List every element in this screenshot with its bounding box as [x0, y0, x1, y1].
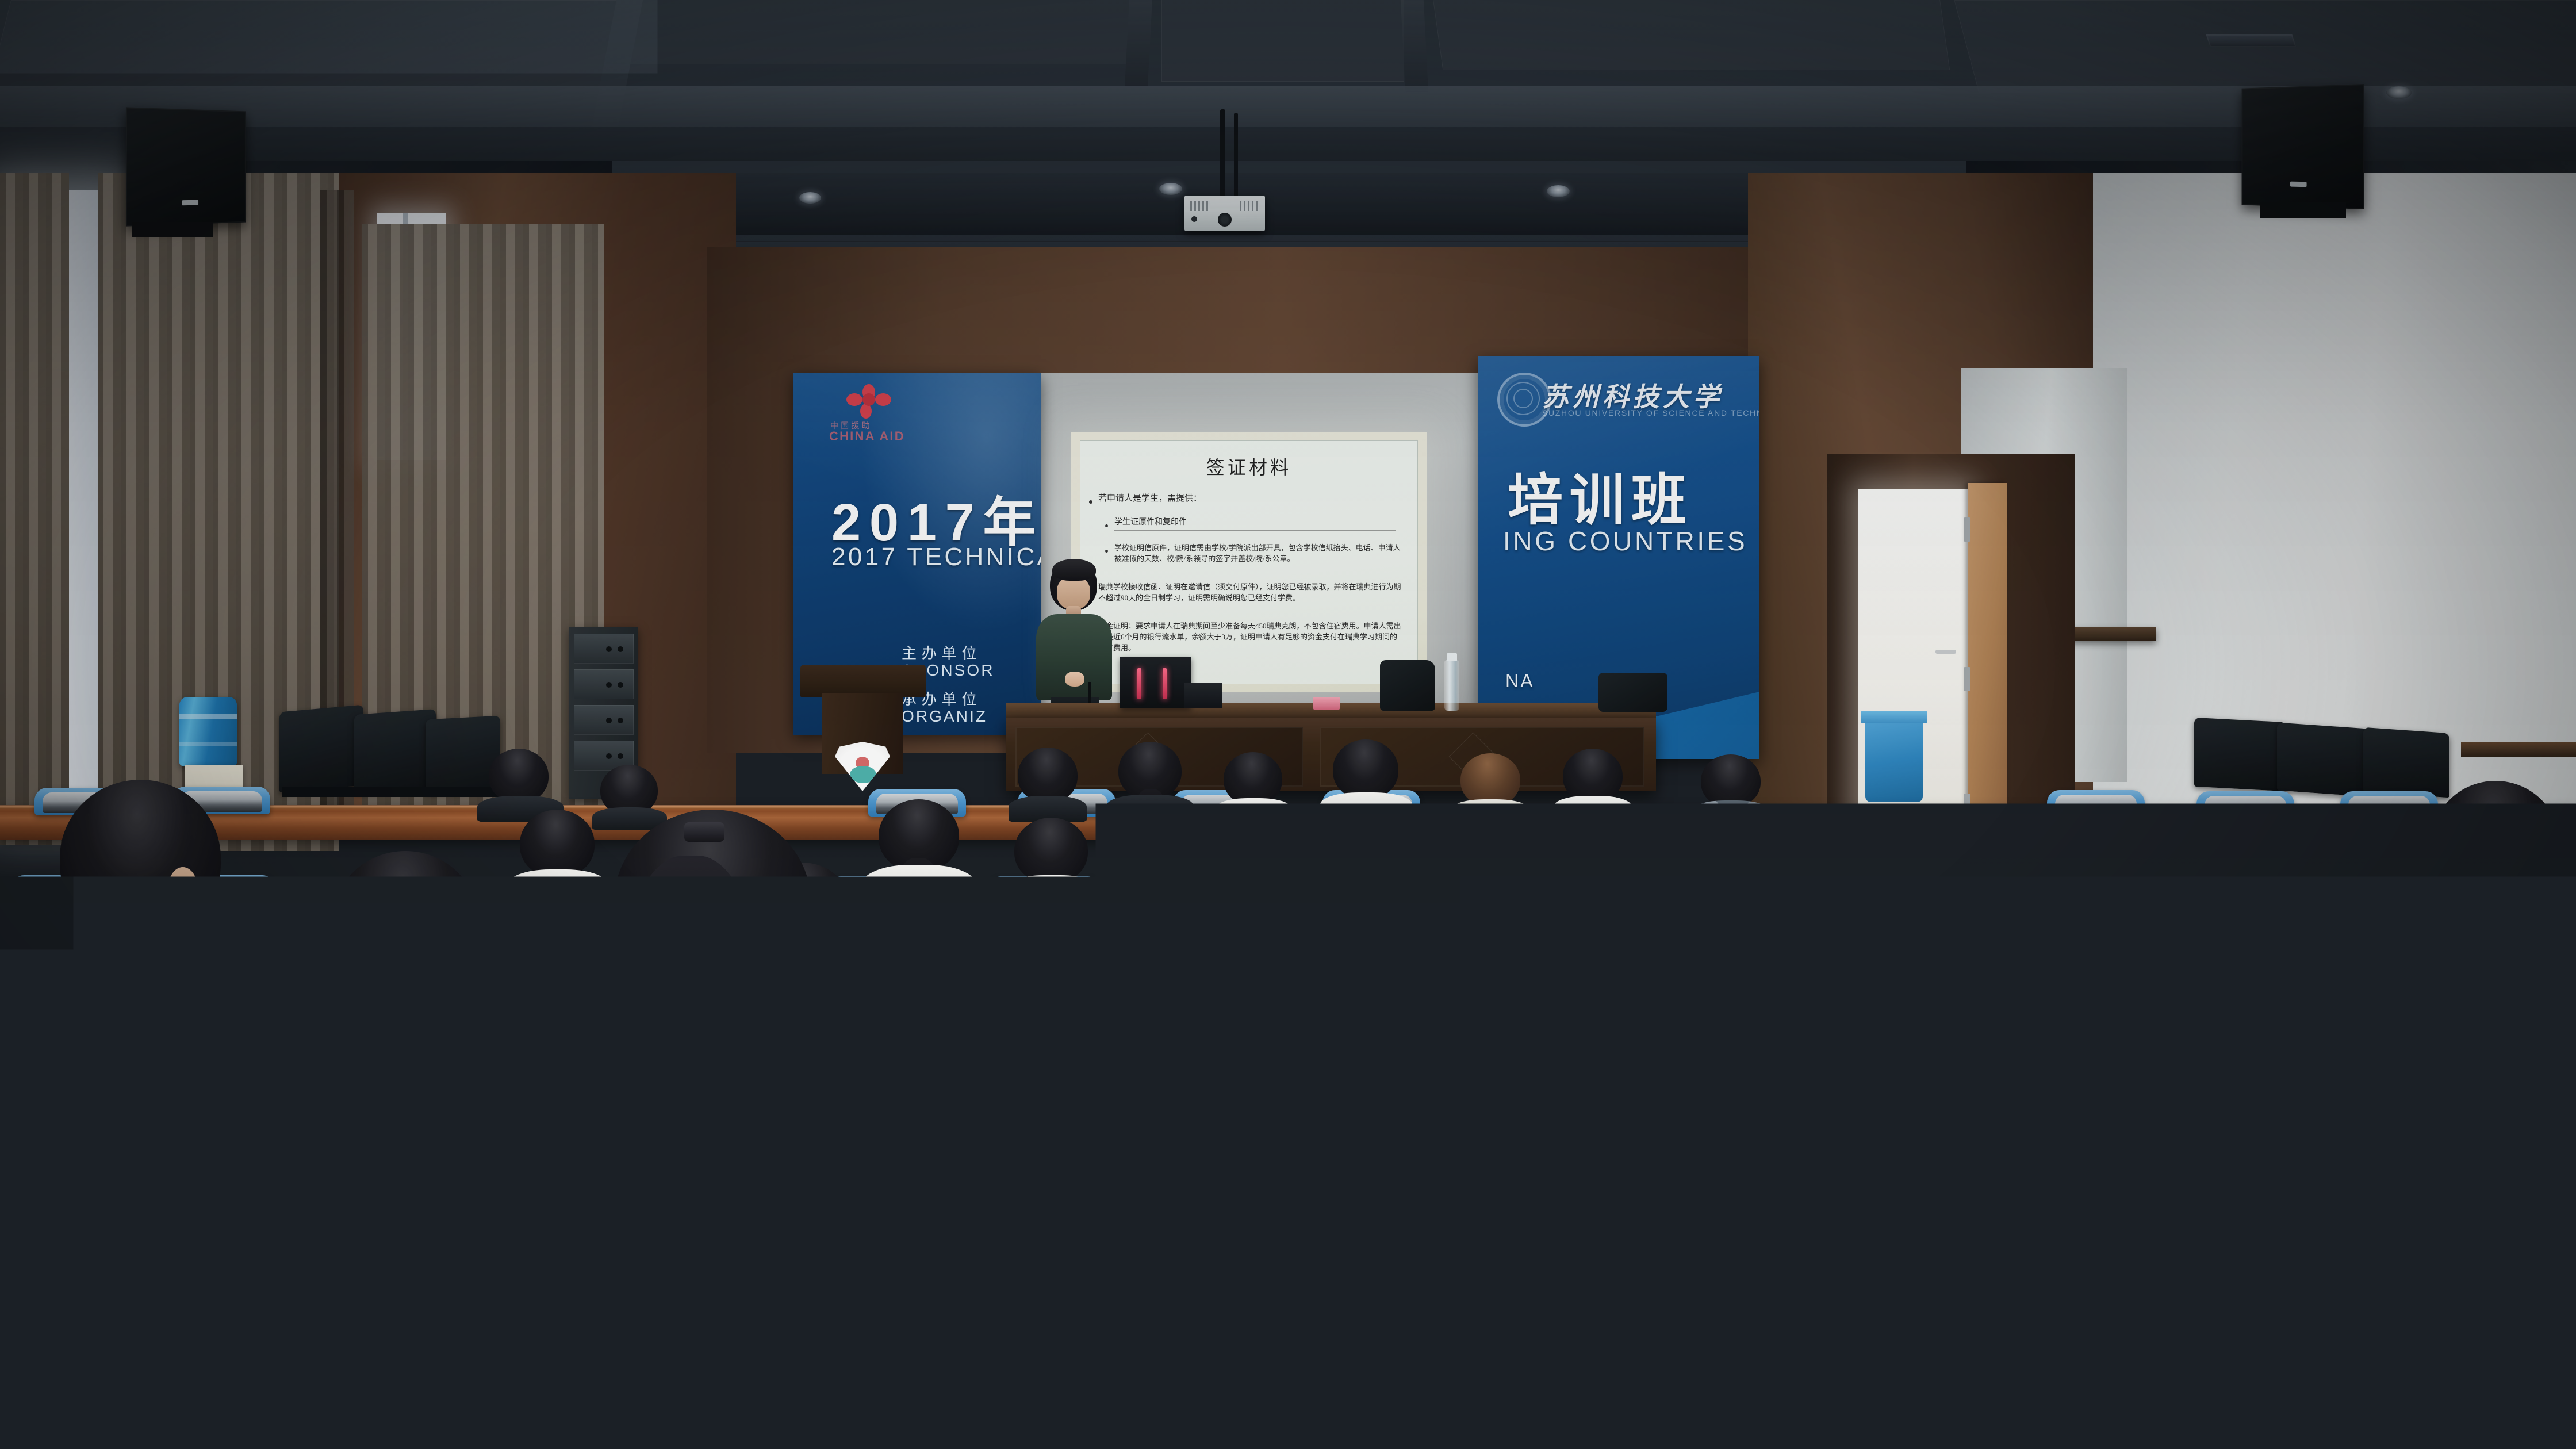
water-bottle-cap	[1447, 653, 1457, 661]
audience-person	[477, 749, 563, 818]
door-leaf[interactable]	[1968, 483, 2007, 839]
hair-over-shirt	[1340, 1151, 1587, 1439]
uniform-badge	[905, 1074, 941, 1110]
water-cooler-jug	[179, 697, 237, 766]
audience-person	[1690, 754, 1771, 822]
banner-sponsor-cn: 主办单位	[902, 642, 982, 663]
ac-vent	[2206, 34, 2296, 47]
trash-bin	[1865, 719, 1923, 802]
audience-person	[1320, 739, 1412, 820]
laptop-base	[1184, 683, 1222, 708]
student-ear	[799, 905, 825, 945]
banner-title-en: ING COUNTRIES	[1503, 526, 1747, 557]
presenter-fringe	[1052, 559, 1096, 581]
student-grid-shirt	[1156, 829, 1771, 1449]
hair-tie	[684, 822, 724, 842]
eyeglasses	[183, 877, 231, 913]
presenter-hand	[1065, 672, 1084, 687]
laptop-screen	[1120, 657, 1191, 708]
slide-title: 签证材料	[1080, 453, 1418, 480]
door-hinge	[1964, 517, 1970, 542]
banner-country-en: NA	[1505, 670, 1535, 692]
milk-tea-brand-en: MILK TEA	[1006, 1143, 1081, 1152]
pink-desk-item	[1313, 697, 1340, 710]
rear-chair[interactable]	[2277, 722, 2369, 796]
ceiling-projector	[1184, 195, 1265, 231]
banner-title-cn: 培训班	[1508, 455, 1693, 535]
rack-unit	[574, 634, 634, 664]
presenter-face	[1057, 576, 1090, 609]
china-aid-logo-icon	[846, 384, 891, 420]
seat[interactable]	[34, 1184, 207, 1240]
milk-tea-brand-cn: 统一奶茶	[1006, 1109, 1081, 1124]
banner-organizer-en: ORGANIZ	[902, 707, 987, 726]
speaker-bracket-left	[132, 222, 213, 237]
audience-person	[1007, 747, 1088, 819]
speaker-badge	[2290, 182, 2307, 187]
student-long-hair-denim	[1828, 816, 2507, 1449]
door-handle[interactable]	[1935, 650, 1956, 654]
student-ear	[1561, 1002, 1590, 1045]
stage-bag	[1380, 660, 1435, 711]
door-hinge	[1964, 667, 1970, 691]
slide-bullet-4: 资金证明：要求申请人在瑞典期间至少准备每天450瑞典克朗，不包含住宿费用。申请人…	[1098, 621, 1403, 654]
suzhou-university-en: SUZHOU UNIVERSITY OF SCIENCE AND TECHNOL…	[1542, 408, 1759, 417]
slide-bullet-0: 若申请人是学生，需提供：	[1098, 493, 1409, 505]
audience-person	[2409, 781, 2576, 1022]
speaker-badge	[182, 200, 198, 206]
audience-person	[1216, 752, 1291, 819]
rear-chair[interactable]	[354, 709, 436, 793]
hair-tie	[1425, 850, 1478, 867]
presenter	[1029, 559, 1127, 726]
slide-bullet-3: 瑞典学校接收信函、证明在邀请信（须交付原件），证明您已经被录取，并将在瑞典进行为…	[1098, 582, 1403, 604]
seat[interactable]	[2047, 790, 2145, 818]
banner-subtitle-en: 2017 TECHNICA	[831, 543, 1041, 572]
stage-bag-right	[1598, 673, 1667, 712]
projector-lens	[1218, 213, 1232, 227]
jacket-collar	[34, 952, 224, 977]
lectern-top	[800, 665, 926, 697]
china-aid-logo-en: CHINA AID	[829, 429, 921, 444]
projector-vent	[1190, 201, 1210, 211]
right-counter	[2461, 742, 2576, 757]
downlight	[1547, 185, 1570, 197]
denim-jacket	[1828, 1207, 2392, 1449]
hand-fan	[835, 742, 890, 791]
downlight	[799, 192, 821, 204]
slide-content: 签证材料 若申请人是学生，需提供： 学生证原件和复印件 学校证明信原件，证明信需…	[1080, 440, 1418, 684]
slide-bullet-1: 学生证原件和复印件	[1114, 517, 1402, 528]
projector-vent	[1240, 201, 1259, 211]
rear-chair[interactable]	[2194, 718, 2286, 791]
downlight	[1159, 183, 1182, 195]
rack-unit	[574, 705, 634, 735]
lecture-hall-photo: 中国援助 CHINA AID 2017年 2017 TECHNICA 主办单位 …	[0, 0, 2576, 1449]
paper-sheet	[645, 980, 708, 1007]
milk-tea-carton: 统一奶茶 MILK TEA	[1002, 1079, 1086, 1240]
trash-bin-lid	[1861, 711, 1927, 723]
paper-sheet	[1256, 975, 1327, 1007]
downlight	[2386, 86, 2412, 99]
vest-shoulder-highlight	[469, 1099, 642, 1151]
wall-speaker-right	[2242, 84, 2364, 209]
speaker-bracket-right	[2260, 202, 2346, 218]
carton-bird-icon	[1057, 1089, 1073, 1097]
seat[interactable]	[2196, 791, 2294, 819]
slide-bullet-2: 学校证明信原件，证明信需由学校/学院派出部开具，包含学校信纸抬头、电话、申请人被…	[1114, 543, 1402, 565]
presenter-torso	[1036, 614, 1112, 700]
phone-screen-content	[844, 931, 913, 966]
wall-speaker-left	[126, 107, 246, 226]
rack-unit	[574, 669, 634, 699]
curtain-left-outer	[0, 172, 69, 845]
water-bottle	[1444, 660, 1459, 711]
audience-person	[1107, 742, 1193, 818]
student-uniform-ponytail	[362, 810, 1104, 1449]
